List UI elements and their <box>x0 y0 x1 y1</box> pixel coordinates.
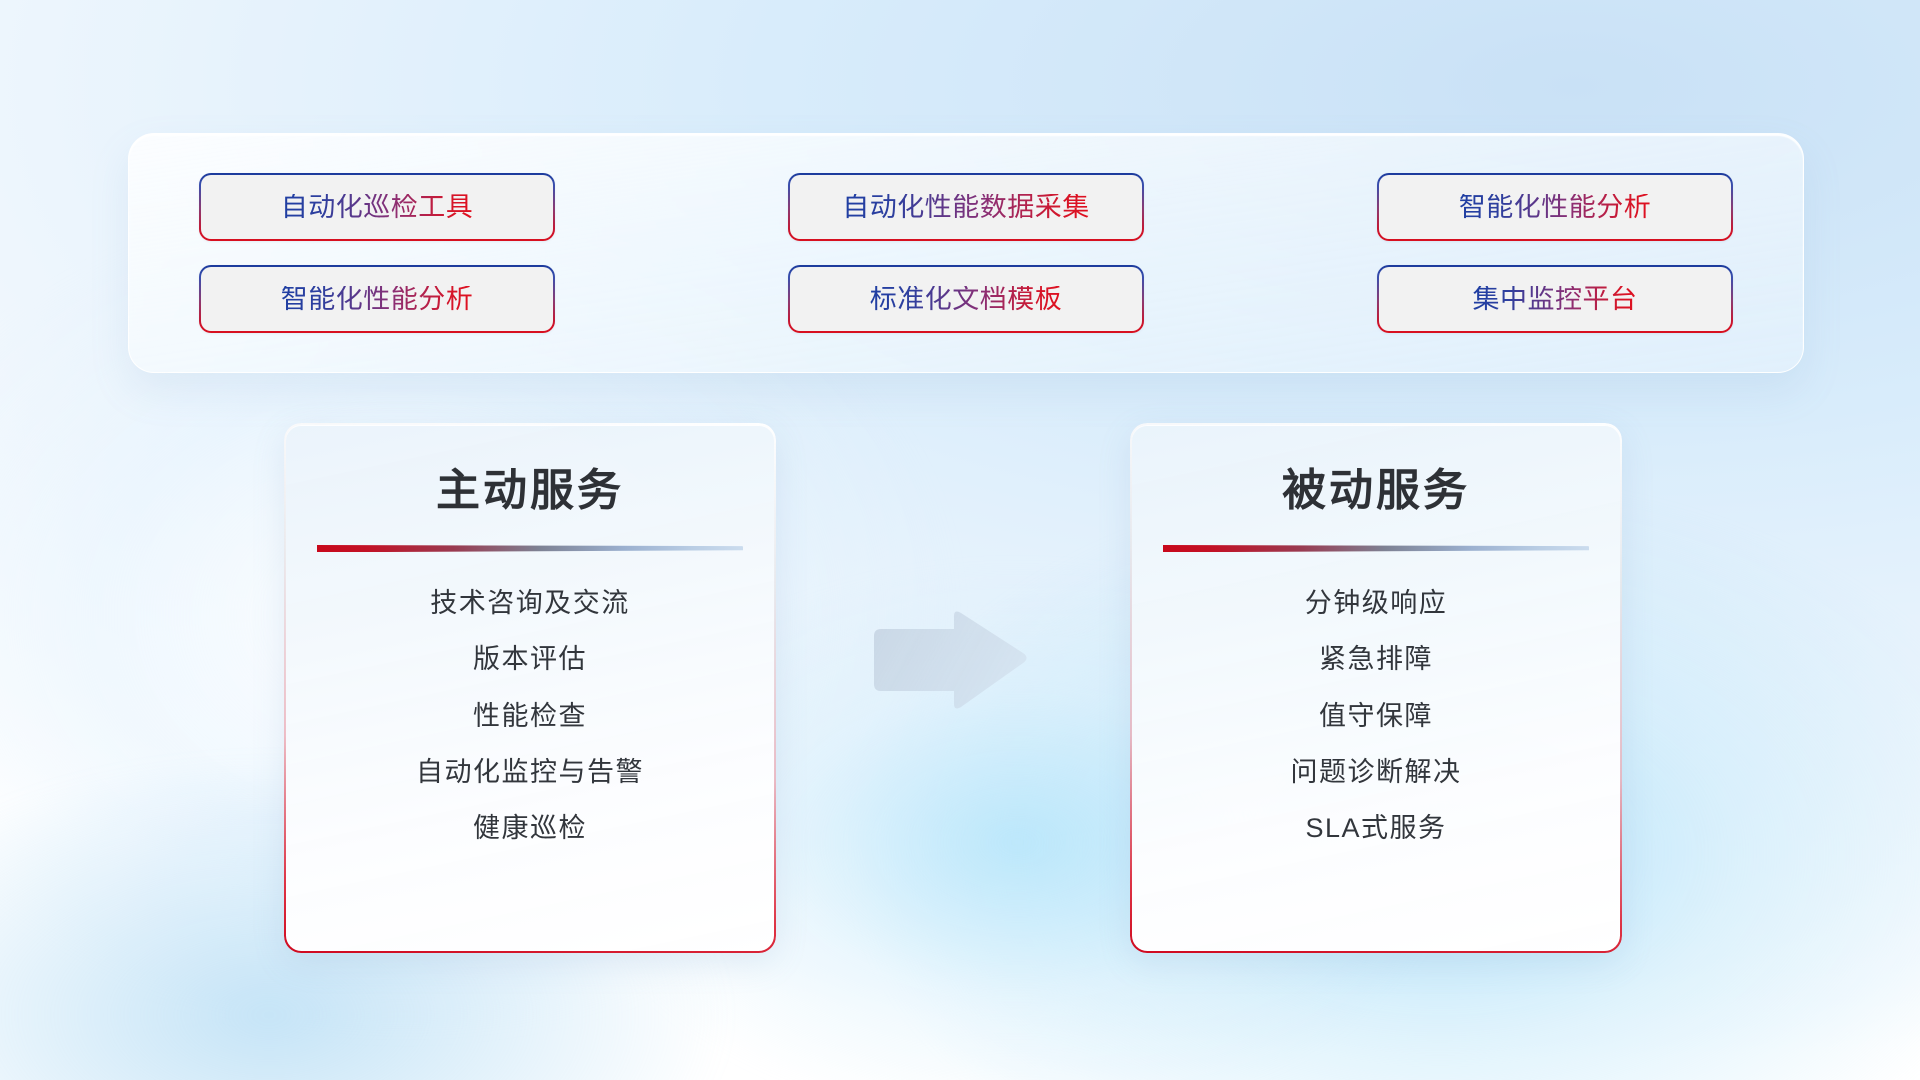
card-item-list: 技术咨询及交流 版本评估 性能检查 自动化监控与告警 健康巡检 <box>316 586 744 845</box>
capability-chip-label: 集中监控平台 <box>1473 286 1638 313</box>
capability-row-2: 智能化性能分析 标准化文档模板 集中监控平台 <box>199 265 1733 333</box>
capability-chip-centralized-monitoring-platform[interactable]: 集中监控平台 <box>1377 265 1733 333</box>
capability-chip-standardized-document-template[interactable]: 标准化文档模板 <box>788 265 1144 333</box>
list-item: 分钟级响应 <box>1305 586 1448 621</box>
capability-chip-intelligent-performance-analysis-bottom[interactable]: 智能化性能分析 <box>199 265 555 333</box>
capability-chip-automated-inspection-tool[interactable]: 自动化巡检工具 <box>199 173 555 241</box>
card-divider <box>1163 543 1589 552</box>
capability-chip-label: 自动化性能数据采集 <box>842 194 1090 221</box>
capability-row-1: 自动化巡检工具 自动化性能数据采集 智能化性能分析 <box>199 173 1733 241</box>
list-item: 性能检查 <box>473 699 587 734</box>
right-arrow-icon <box>868 608 1030 712</box>
card-divider-bar <box>1163 543 1589 552</box>
list-item: 健康巡检 <box>473 811 587 846</box>
capability-chip-label: 智能化性能分析 <box>281 286 474 313</box>
capability-chip-intelligent-performance-analysis-top[interactable]: 智能化性能分析 <box>1377 173 1733 241</box>
capability-chip-label: 智能化性能分析 <box>1459 194 1652 221</box>
list-item: 值守保障 <box>1319 699 1433 734</box>
list-item: 问题诊断解决 <box>1291 755 1462 790</box>
card-title: 主动服务 <box>316 467 744 515</box>
card-title: 被动服务 <box>1162 467 1590 515</box>
service-card-proactive[interactable]: 主动服务 技术咨询及交流 版本评估 性能检查 自动化监控与告警 健康巡检 <box>285 424 775 952</box>
card-divider <box>317 543 743 552</box>
capability-panel: 自动化巡检工具 自动化性能数据采集 智能化性能分析 智能化性能分析 标准化文档模… <box>128 133 1804 373</box>
capability-chip-label: 自动化巡检工具 <box>281 194 474 221</box>
service-card-reactive[interactable]: 被动服务 分钟级响应 紧急排障 值守保障 问题诊断解决 SLA式服务 <box>1131 424 1621 952</box>
list-item: 版本评估 <box>473 642 587 677</box>
card-item-list: 分钟级响应 紧急排障 值守保障 问题诊断解决 SLA式服务 <box>1162 586 1590 845</box>
list-item: 紧急排障 <box>1319 642 1433 677</box>
list-item: 技术咨询及交流 <box>430 586 630 621</box>
diagram-stage: 自动化巡检工具 自动化性能数据采集 智能化性能分析 智能化性能分析 标准化文档模… <box>0 0 1920 1080</box>
capability-chip-label: 标准化文档模板 <box>870 286 1063 313</box>
list-item: SLA式服务 <box>1305 811 1446 846</box>
capability-chip-automated-performance-data-collection[interactable]: 自动化性能数据采集 <box>788 173 1144 241</box>
card-divider-bar <box>317 543 743 552</box>
list-item: 自动化监控与告警 <box>416 755 644 790</box>
